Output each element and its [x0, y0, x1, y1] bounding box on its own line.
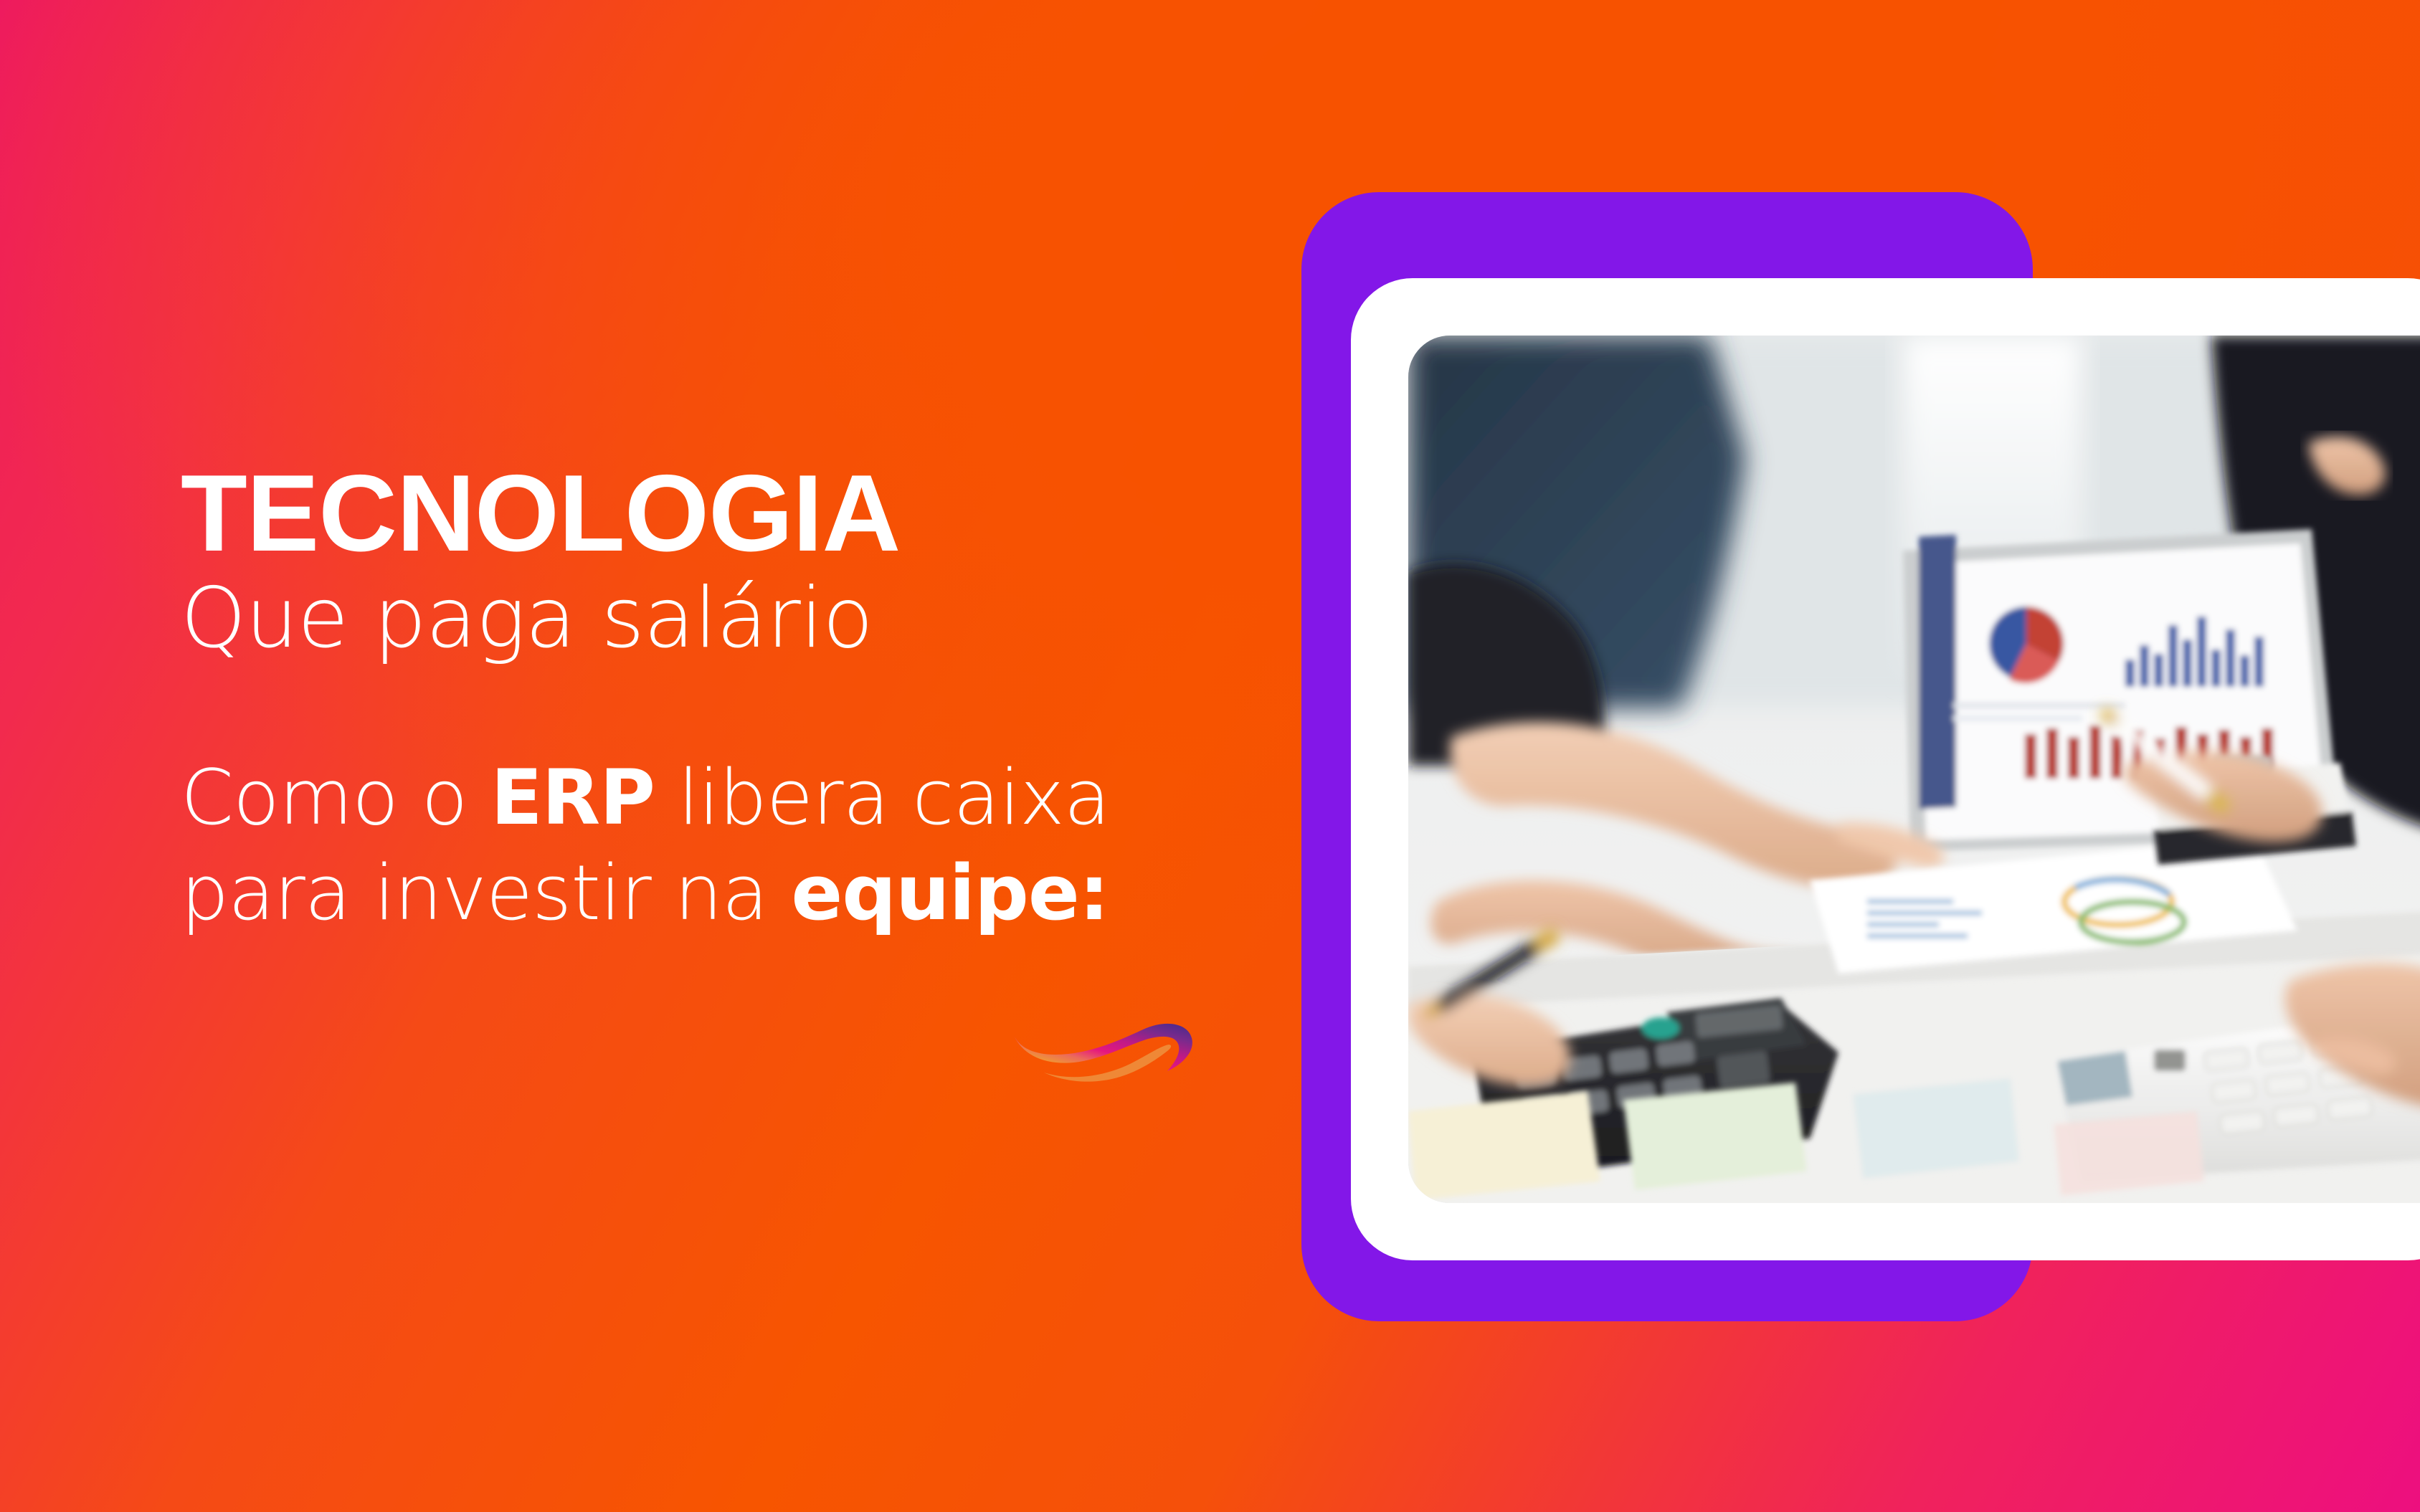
hero-photo — [1408, 336, 2420, 1203]
body-copy: Como o ERP libera caixa para investir na… — [181, 750, 1220, 941]
page-title: TECNOLOGIA — [181, 459, 1220, 568]
text-column: TECNOLOGIA Que paga salário Como o ERP l… — [181, 459, 1220, 941]
body-line2-part1: para investir na — [181, 849, 791, 937]
body-line2-bold: equipe: — [791, 849, 1109, 937]
swoosh-icon — [1002, 1009, 1218, 1095]
subtitle: Que paga salário — [181, 572, 1220, 665]
body-line1-part1: Como o — [181, 753, 490, 842]
body-line1-bold: ERP — [490, 753, 655, 842]
swoosh-logo — [1002, 1009, 1218, 1095]
marketing-banner: TECNOLOGIA Que paga salário Como o ERP l… — [0, 0, 2420, 1512]
body-line1-part2: libera caixa — [655, 753, 1110, 842]
meeting-photo-illustration — [1408, 336, 2420, 1203]
